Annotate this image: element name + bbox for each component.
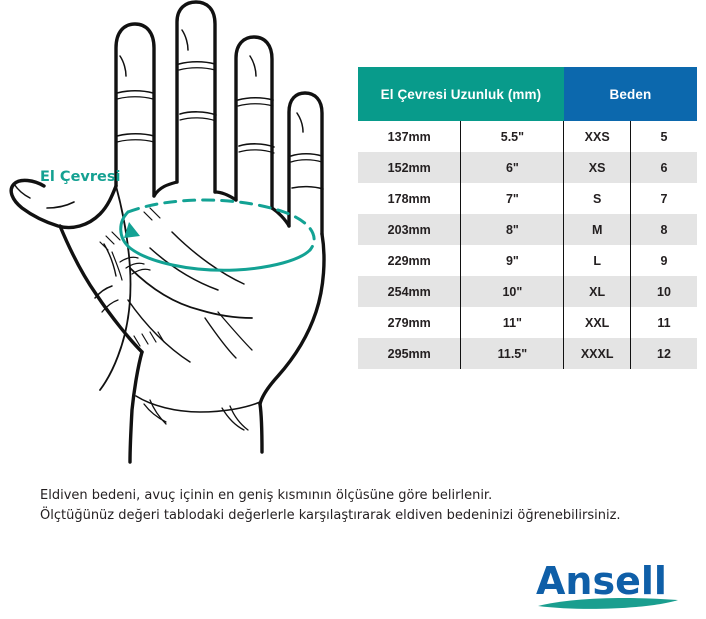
table-row: 279mm 11" XXL 11: [358, 307, 697, 338]
table-row: 137mm 5.5" XXS 5: [358, 121, 697, 152]
caption-line-1: Eldiven bedeni, avuç içinin en geniş kıs…: [40, 486, 670, 506]
header-size: Beden: [564, 67, 697, 121]
table-row: 295mm 11.5" XXXL 12: [358, 338, 697, 369]
cell-size: L: [564, 245, 631, 276]
cell-size: XXXL: [564, 338, 631, 369]
header-hand-circumference: El Çevresi Uzunluk (mm): [358, 67, 564, 121]
table-row: 178mm 7" S 7: [358, 183, 697, 214]
cell-mm: 178mm: [358, 183, 461, 214]
cell-inch: 10": [461, 276, 564, 307]
cell-number: 11: [630, 307, 697, 338]
hand-illustration: El Çevresi: [0, 0, 345, 470]
ansell-wordmark: Ansell: [536, 559, 667, 603]
cell-size: XL: [564, 276, 631, 307]
table-row: 229mm 9" L 9: [358, 245, 697, 276]
hand-circumference-label: El Çevresi: [40, 169, 120, 185]
cell-inch: 6": [461, 152, 564, 183]
cell-inch: 11": [461, 307, 564, 338]
cell-number: 5: [630, 121, 697, 152]
caption-line-2: Ölçtüğünüz değeri tablodaki değerlerle k…: [40, 506, 670, 526]
cell-inch: 5.5": [461, 121, 564, 152]
cell-mm: 254mm: [358, 276, 461, 307]
cell-mm: 295mm: [358, 338, 461, 369]
cell-mm: 203mm: [358, 214, 461, 245]
cell-mm: 152mm: [358, 152, 461, 183]
ansell-logo: Ansell: [528, 556, 700, 612]
table-header-row: El Çevresi Uzunluk (mm) Beden: [358, 67, 697, 121]
glove-size-table: El Çevresi Uzunluk (mm) Beden 137mm 5.5"…: [358, 67, 697, 369]
cell-size: XXL: [564, 307, 631, 338]
cell-number: 7: [630, 183, 697, 214]
hand-circumference-loop: [121, 200, 314, 270]
cell-size: XXS: [564, 121, 631, 152]
cell-number: 9: [630, 245, 697, 276]
cell-inch: 7": [461, 183, 564, 214]
cell-number: 8: [630, 214, 697, 245]
cell-mm: 279mm: [358, 307, 461, 338]
cell-inch: 11.5": [461, 338, 564, 369]
cell-number: 10: [630, 276, 697, 307]
instruction-caption: Eldiven bedeni, avuç içinin en geniş kıs…: [40, 486, 670, 526]
cell-inch: 9": [461, 245, 564, 276]
cell-inch: 8": [461, 214, 564, 245]
cell-size: M: [564, 214, 631, 245]
cell-mm: 229mm: [358, 245, 461, 276]
table-row: 203mm 8" M 8: [358, 214, 697, 245]
table-row: 254mm 10" XL 10: [358, 276, 697, 307]
cell-number: 6: [630, 152, 697, 183]
table-row: 152mm 6" XS 6: [358, 152, 697, 183]
cell-size: S: [564, 183, 631, 214]
cell-size: XS: [564, 152, 631, 183]
cell-mm: 137mm: [358, 121, 461, 152]
cell-number: 12: [630, 338, 697, 369]
